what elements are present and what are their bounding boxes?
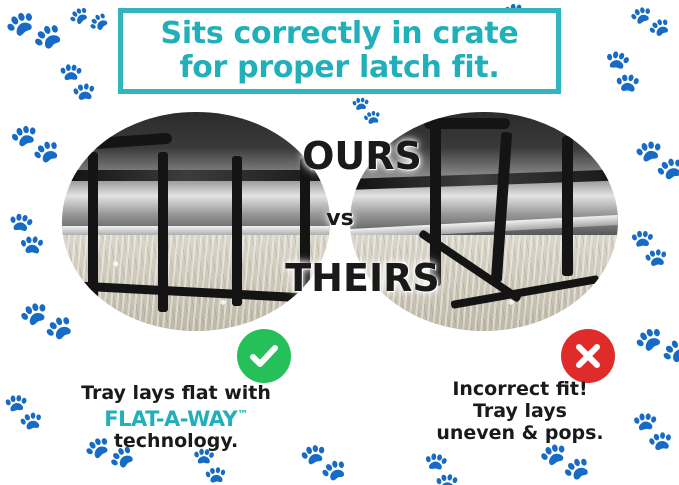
label-theirs: THEIRS [255,256,470,300]
crate-wire-curve [424,118,510,129]
cross-mark-badge [561,329,615,383]
caption-theirs-line-2: Tray lays [370,400,670,422]
caption-ours: Tray lays flat with FLAT-A-WAY™ technolo… [16,382,336,452]
brand-name: FLAT-A-WAY™ [16,404,336,430]
crate-wire-vertical [562,136,573,276]
caption-theirs-line-1: Incorrect fit! [370,378,670,400]
headline-line-1: Sits correctly in crate [161,17,519,51]
label-vs: vs [300,206,380,231]
close-icon [572,340,604,372]
trademark-symbol: ™ [237,408,248,421]
crate-wire-vertical [88,152,98,302]
paw-print-icon: 🐾 [0,206,55,261]
check-icon [247,339,281,373]
caption-theirs: Incorrect fit! Tray lays uneven & pops. [370,378,670,444]
paw-print-icon: 🐾 [594,43,651,99]
check-mark-badge [237,329,291,383]
paw-print-icon: 🐾 [415,446,468,485]
paw-print-icon: 🐾 [0,0,67,63]
label-ours: OURS [262,134,462,178]
headline-line-2: for proper latch fit. [179,51,499,85]
product-comparison-infographic: 🐾 🐾 🐾 🐾 🐾 🐾 🐾 🐾 🐾 🐾 🐾 🐾 🐾 🐾 🐾 🐾 🐾 🐾 🐾 🐾 … [0,0,679,485]
paw-print-icon: 🐾 [64,0,113,43]
paw-print-icon: 🐾 [632,134,679,184]
crate-wire-vertical [232,156,242,306]
headline-banner: Sits correctly in crate for proper latch… [118,8,561,94]
paw-print-icon: 🐾 [52,58,102,106]
paw-print-icon: 🐾 [629,313,679,378]
paw-print-icon: 🐾 [627,0,673,43]
paw-print-icon: 🐾 [7,117,63,170]
paw-print-icon: 🐾 [625,225,674,272]
caption-ours-line-1: Tray lays flat with [16,382,336,404]
caption-ours-line-3: technology. [16,430,336,452]
brand-text: FLAT-A-WAY [104,407,237,431]
caption-theirs-line-3: uneven & pops. [370,422,670,444]
